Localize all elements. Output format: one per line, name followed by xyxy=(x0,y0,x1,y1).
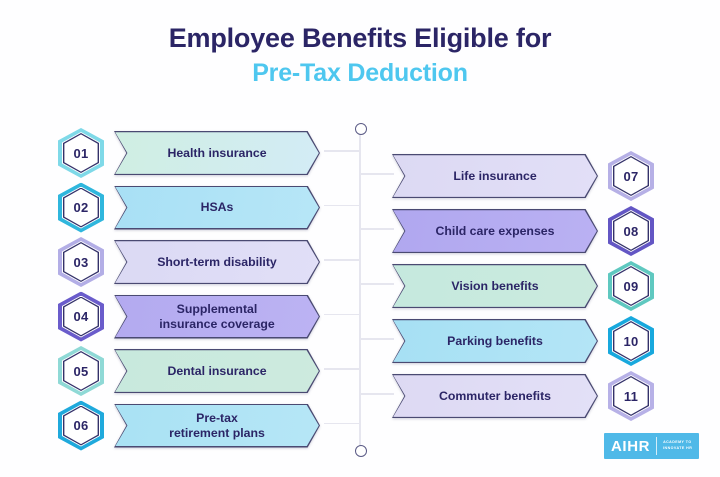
benefit-number-label: 10 xyxy=(608,316,654,366)
benefit-number-label: 05 xyxy=(58,346,104,396)
center-spine-line xyxy=(359,128,361,450)
connector-line xyxy=(324,259,360,261)
connector-line xyxy=(360,228,394,230)
logo-tagline-line-2: INNOVATE HR xyxy=(663,446,692,452)
benefit-label: Commuter benefits xyxy=(423,389,567,404)
benefit-number-badge: 10 xyxy=(608,316,654,366)
logo-wordmark: AIHR xyxy=(611,433,650,459)
benefit-chevron[interactable]: Child care expenses xyxy=(392,209,598,253)
connector-line xyxy=(324,314,360,316)
benefit-row[interactable]: Commuter benefits11 xyxy=(392,371,654,421)
benefit-number-badge: 08 xyxy=(608,206,654,256)
benefit-number-label: 11 xyxy=(608,371,654,421)
benefit-row[interactable]: 06Pre-tax retirement plans xyxy=(58,401,320,451)
benefit-row[interactable]: 02HSAs xyxy=(58,183,320,233)
benefit-chevron[interactable]: Health insurance xyxy=(114,131,320,175)
connector-line xyxy=(324,423,360,425)
benefit-chevron[interactable]: Dental insurance xyxy=(114,349,320,393)
benefit-number-badge: 07 xyxy=(608,151,654,201)
infographic-canvas: Employee Benefits Eligible for Pre-Tax D… xyxy=(0,0,720,477)
connector-line xyxy=(360,338,394,340)
benefit-label: HSAs xyxy=(185,200,250,215)
benefit-label: Short-term disability xyxy=(141,255,293,270)
benefit-number-label: 06 xyxy=(58,401,104,451)
benefit-label: Vision benefits xyxy=(435,279,554,294)
benefit-chevron[interactable]: Pre-tax retirement plans xyxy=(114,404,320,448)
benefit-chevron[interactable]: Vision benefits xyxy=(392,264,598,308)
benefit-number-badge: 02 xyxy=(58,183,104,233)
page-title: Employee Benefits Eligible for Pre-Tax D… xyxy=(0,22,720,88)
connector-line xyxy=(324,368,360,370)
benefit-chevron[interactable]: Supplemental insurance coverage xyxy=(114,295,320,339)
benefit-number-label: 03 xyxy=(58,237,104,287)
aihr-logo: AIHR ACADEMY TO INNOVATE HR xyxy=(604,433,699,459)
benefit-number-label: 01 xyxy=(58,128,104,178)
benefit-number-label: 02 xyxy=(58,183,104,233)
benefit-label: Health insurance xyxy=(151,146,282,161)
spine-bottom-dot-icon xyxy=(355,445,367,457)
title-line-2: Pre-Tax Deduction xyxy=(0,58,720,89)
spine-top-dot-icon xyxy=(355,123,367,135)
benefit-number-label: 08 xyxy=(608,206,654,256)
benefit-row[interactable]: Life insurance07 xyxy=(392,151,654,201)
logo-tagline: ACADEMY TO INNOVATE HR xyxy=(663,433,692,459)
benefit-row[interactable]: Vision benefits09 xyxy=(392,261,654,311)
benefit-label: Dental insurance xyxy=(151,364,282,379)
connector-line xyxy=(360,393,394,395)
benefit-row[interactable]: 03Short-term disability xyxy=(58,237,320,287)
connector-line xyxy=(324,205,360,207)
benefit-label: Pre-tax retirement plans xyxy=(153,411,281,441)
benefit-number-badge: 04 xyxy=(58,292,104,342)
connector-line xyxy=(360,283,394,285)
benefit-chevron[interactable]: Life insurance xyxy=(392,154,598,198)
benefit-number-badge: 09 xyxy=(608,261,654,311)
benefit-chevron[interactable]: Short-term disability xyxy=(114,240,320,284)
connector-line xyxy=(360,173,394,175)
benefit-label: Supplemental insurance coverage xyxy=(143,302,291,332)
connector-line xyxy=(324,150,360,152)
benefit-number-badge: 05 xyxy=(58,346,104,396)
logo-divider xyxy=(656,437,657,455)
benefit-chevron[interactable]: Parking benefits xyxy=(392,319,598,363)
benefit-row[interactable]: Parking benefits10 xyxy=(392,316,654,366)
benefit-number-label: 09 xyxy=(608,261,654,311)
benefit-row[interactable]: 01Health insurance xyxy=(58,128,320,178)
title-line-1: Employee Benefits Eligible for xyxy=(0,22,720,55)
benefit-row[interactable]: 04Supplemental insurance coverage xyxy=(58,292,320,342)
benefit-number-badge: 06 xyxy=(58,401,104,451)
benefit-chevron[interactable]: Commuter benefits xyxy=(392,374,598,418)
benefit-row[interactable]: Child care expenses08 xyxy=(392,206,654,256)
benefit-chevron[interactable]: HSAs xyxy=(114,186,320,230)
benefit-number-label: 07 xyxy=(608,151,654,201)
benefit-number-badge: 03 xyxy=(58,237,104,287)
benefit-number-badge: 01 xyxy=(58,128,104,178)
benefit-row[interactable]: 05Dental insurance xyxy=(58,346,320,396)
benefit-number-label: 04 xyxy=(58,292,104,342)
benefit-number-badge: 11 xyxy=(608,371,654,421)
benefit-label: Life insurance xyxy=(437,169,552,184)
benefit-label: Parking benefits xyxy=(431,334,559,349)
benefit-label: Child care expenses xyxy=(420,224,571,239)
